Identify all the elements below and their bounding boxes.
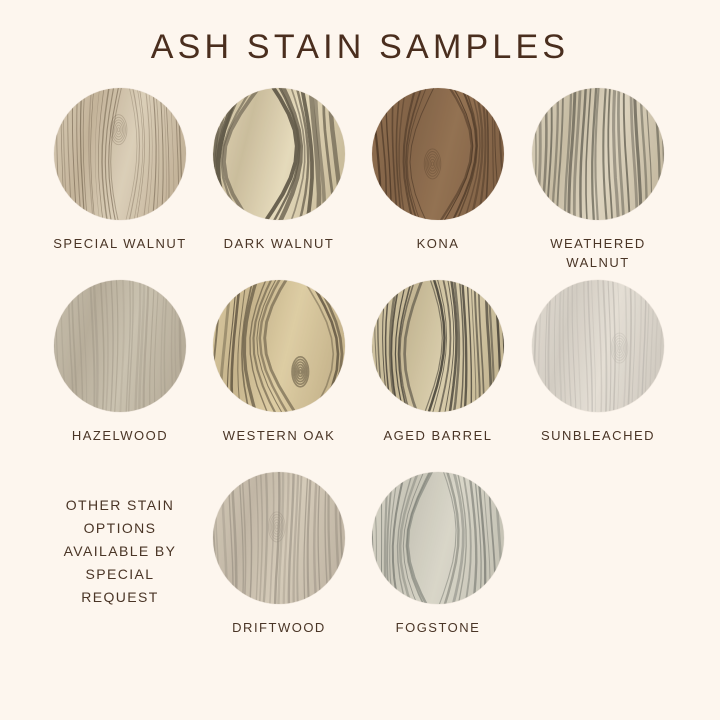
- wood-swatch[interactable]: [54, 88, 186, 220]
- wood-swatch[interactable]: [213, 280, 345, 412]
- note-line: OTHER STAIN: [40, 494, 200, 517]
- note-line: OPTIONS: [40, 517, 200, 540]
- wood-swatch[interactable]: [372, 88, 504, 220]
- swatch-cell[interactable]: HAZELWOOD: [40, 280, 200, 445]
- swatch-label: DARK WALNUT: [199, 234, 359, 253]
- wood-swatch[interactable]: [213, 88, 345, 220]
- swatch-row: SPECIAL WALNUT DARK WALNUT KONA WEATHERE…: [0, 88, 720, 280]
- wood-swatch[interactable]: [213, 472, 345, 604]
- wood-swatch[interactable]: [372, 472, 504, 604]
- swatch-label: KONA: [358, 234, 518, 253]
- wood-grain-texture: [372, 280, 504, 412]
- wood-grain-texture: [54, 280, 186, 412]
- swatch-label: SUNBLEACHED: [518, 426, 678, 445]
- swatch-cell[interactable]: SUNBLEACHED: [518, 280, 678, 445]
- wood-swatch[interactable]: [532, 88, 664, 220]
- wood-grain-texture: [372, 472, 504, 604]
- swatch-row: HAZELWOOD WESTERN OAK AGED BARREL SUNBLE…: [0, 280, 720, 472]
- swatch-row: OTHER STAINOPTIONSAVAILABLE BYSPECIALREQ…: [0, 472, 720, 664]
- swatch-label: HAZELWOOD: [40, 426, 200, 445]
- note-line: SPECIAL: [40, 563, 200, 586]
- swatch-cell[interactable]: FOGSTONE: [358, 472, 518, 637]
- note-line: REQUEST: [40, 586, 200, 609]
- swatch-grid: SPECIAL WALNUT DARK WALNUT KONA WEATHERE…: [0, 88, 720, 664]
- wood-grain-texture: [213, 472, 345, 604]
- swatch-label: SPECIAL WALNUT: [40, 234, 200, 253]
- swatch-cell[interactable]: KONA: [358, 88, 518, 253]
- swatch-cell[interactable]: SPECIAL WALNUT: [40, 88, 200, 253]
- swatch-cell[interactable]: DARK WALNUT: [199, 88, 359, 253]
- wood-grain-texture: [532, 88, 664, 220]
- swatch-cell[interactable]: WESTERN OAK: [199, 280, 359, 445]
- wood-grain-texture: [532, 280, 664, 412]
- swatch-cell[interactable]: WEATHERED WALNUT: [518, 88, 678, 272]
- other-options-note: OTHER STAINOPTIONSAVAILABLE BYSPECIALREQ…: [40, 494, 200, 609]
- wood-grain-texture: [213, 88, 345, 220]
- page-title: ASH STAIN SAMPLES: [0, 28, 720, 67]
- swatch-label: WESTERN OAK: [199, 426, 359, 445]
- wood-swatch[interactable]: [532, 280, 664, 412]
- wood-grain-texture: [372, 88, 504, 220]
- wood-swatch[interactable]: [372, 280, 504, 412]
- swatch-label: DRIFTWOOD: [199, 618, 359, 637]
- wood-swatch[interactable]: [54, 280, 186, 412]
- swatch-label: AGED BARREL: [358, 426, 518, 445]
- wood-grain-texture: [213, 280, 345, 412]
- swatch-cell[interactable]: DRIFTWOOD: [199, 472, 359, 637]
- swatch-label: WEATHERED WALNUT: [518, 234, 678, 272]
- swatch-label: FOGSTONE: [358, 618, 518, 637]
- swatch-cell[interactable]: AGED BARREL: [358, 280, 518, 445]
- wood-grain-texture: [54, 88, 186, 220]
- note-line: AVAILABLE BY: [40, 540, 200, 563]
- stain-sample-poster: ASH STAIN SAMPLES SPECIAL WALNUT DARK WA…: [0, 0, 720, 720]
